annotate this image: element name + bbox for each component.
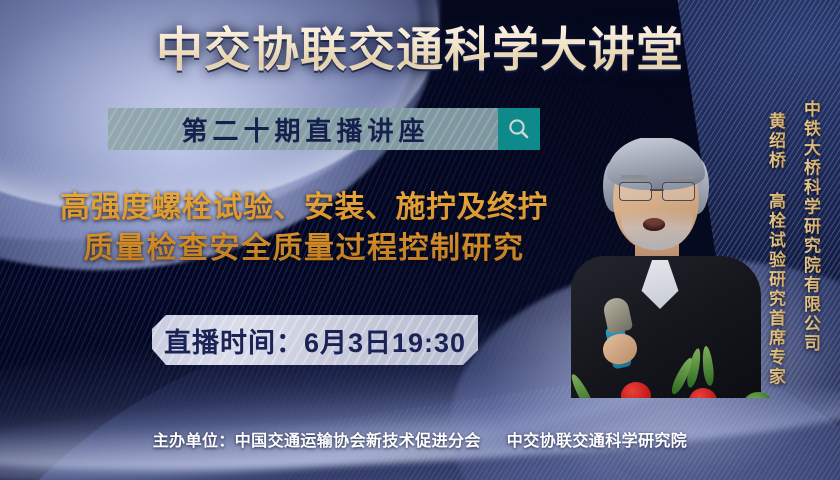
portrait-bouquet [565,346,785,398]
footer-organizers: 主办单位：中国交通运输协会新技术促进分会中交协联交通科学研究院 [0,427,840,451]
broadcast-time-label: 直播时间：6月3日19:30 [164,321,466,360]
footer-organizer-secondary: 中交协联交通科学研究院 [507,433,687,450]
page-title: 中交协联交通科学大讲堂 [0,21,840,79]
bouquet-foliage [743,392,773,398]
search-button[interactable] [498,108,540,150]
bouquet-leaf [701,346,715,387]
lecture-topic-line-2: 质量检查安全质量过程控制研究 [8,228,600,269]
broadcast-time-badge: 直播时间：6月3日19:30 [152,315,478,365]
portrait-eyebrow-right [669,175,695,179]
search-icon [507,117,531,141]
lecture-topic: 高强度螺栓试验、安装、施拧及终拧 质量检查安全质量过程控制研究 [8,187,600,269]
portrait-lens-left [619,182,652,201]
footer-organizer-primary: 主办单位：中国交通运输协会新技术促进分会 [153,433,481,450]
episode-banner: 第二十期直播讲座 [108,108,540,150]
portrait-lens-right [662,182,695,201]
bouquet-leaf [568,372,596,398]
speaker-organization: 中铁大桥科学研究院有限公司 [798,100,823,354]
portrait-mouth [643,218,665,231]
speaker-name-and-title: 黄绍桥 高栓试验研究首席专家 [763,112,788,387]
portrait-eyebrow-left [621,175,647,179]
live-lecture-poster: 中交协联交通科学大讲堂 第二十期直播讲座 高强度螺栓试验、安装、施拧及终拧 质量… [0,0,840,480]
episode-banner-body: 第二十期直播讲座 [108,108,498,150]
bouquet-flower-red [689,388,717,398]
episode-label: 第二十期直播讲座 [176,111,429,148]
portrait-glasses [619,182,695,199]
bouquet-flower-red [621,382,651,398]
lecture-topic-line-1: 高强度螺栓试验、安装、施拧及终拧 [8,187,600,228]
